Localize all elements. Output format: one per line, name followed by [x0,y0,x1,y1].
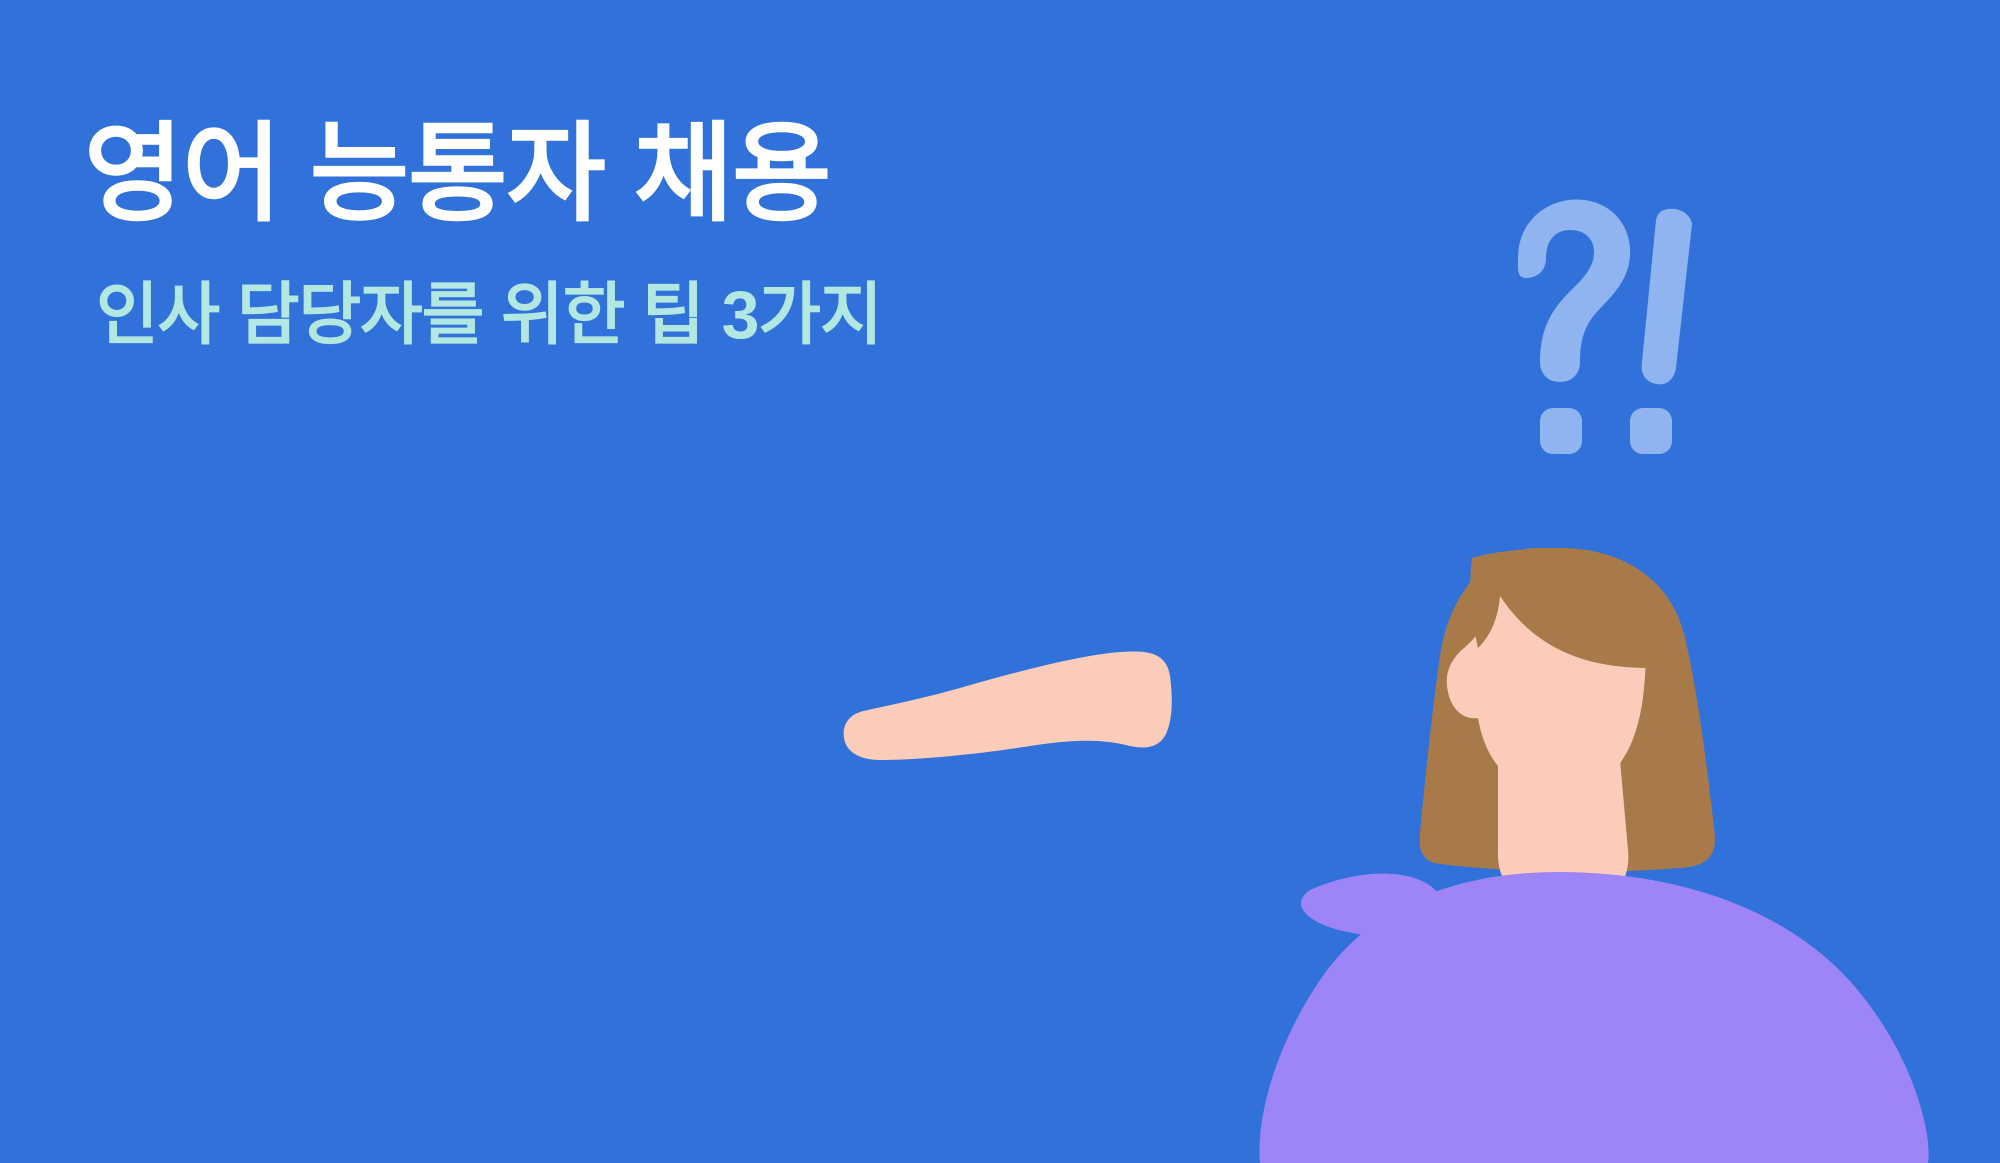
page-title: 영어 능통자 채용 [84,110,1134,237]
forearm-shape [1301,874,1446,938]
exclamation-mark-icon [1630,209,1692,454]
character-illustration [1020,420,2000,1163]
page-subtitle: 인사 담당자를 위한 팁 3가지 [96,275,1134,355]
headline-group: 영어 능통자 채용 인사 담당자를 위한 팁 3가지 [84,110,1134,356]
sleeve-shape [1260,914,1424,1163]
hand-shape [844,651,1172,760]
promo-banner: 영어 능통자 채용 인사 담당자를 위한 팁 3가지 [0,0,2000,1163]
question-mark-icon [1518,200,1630,454]
